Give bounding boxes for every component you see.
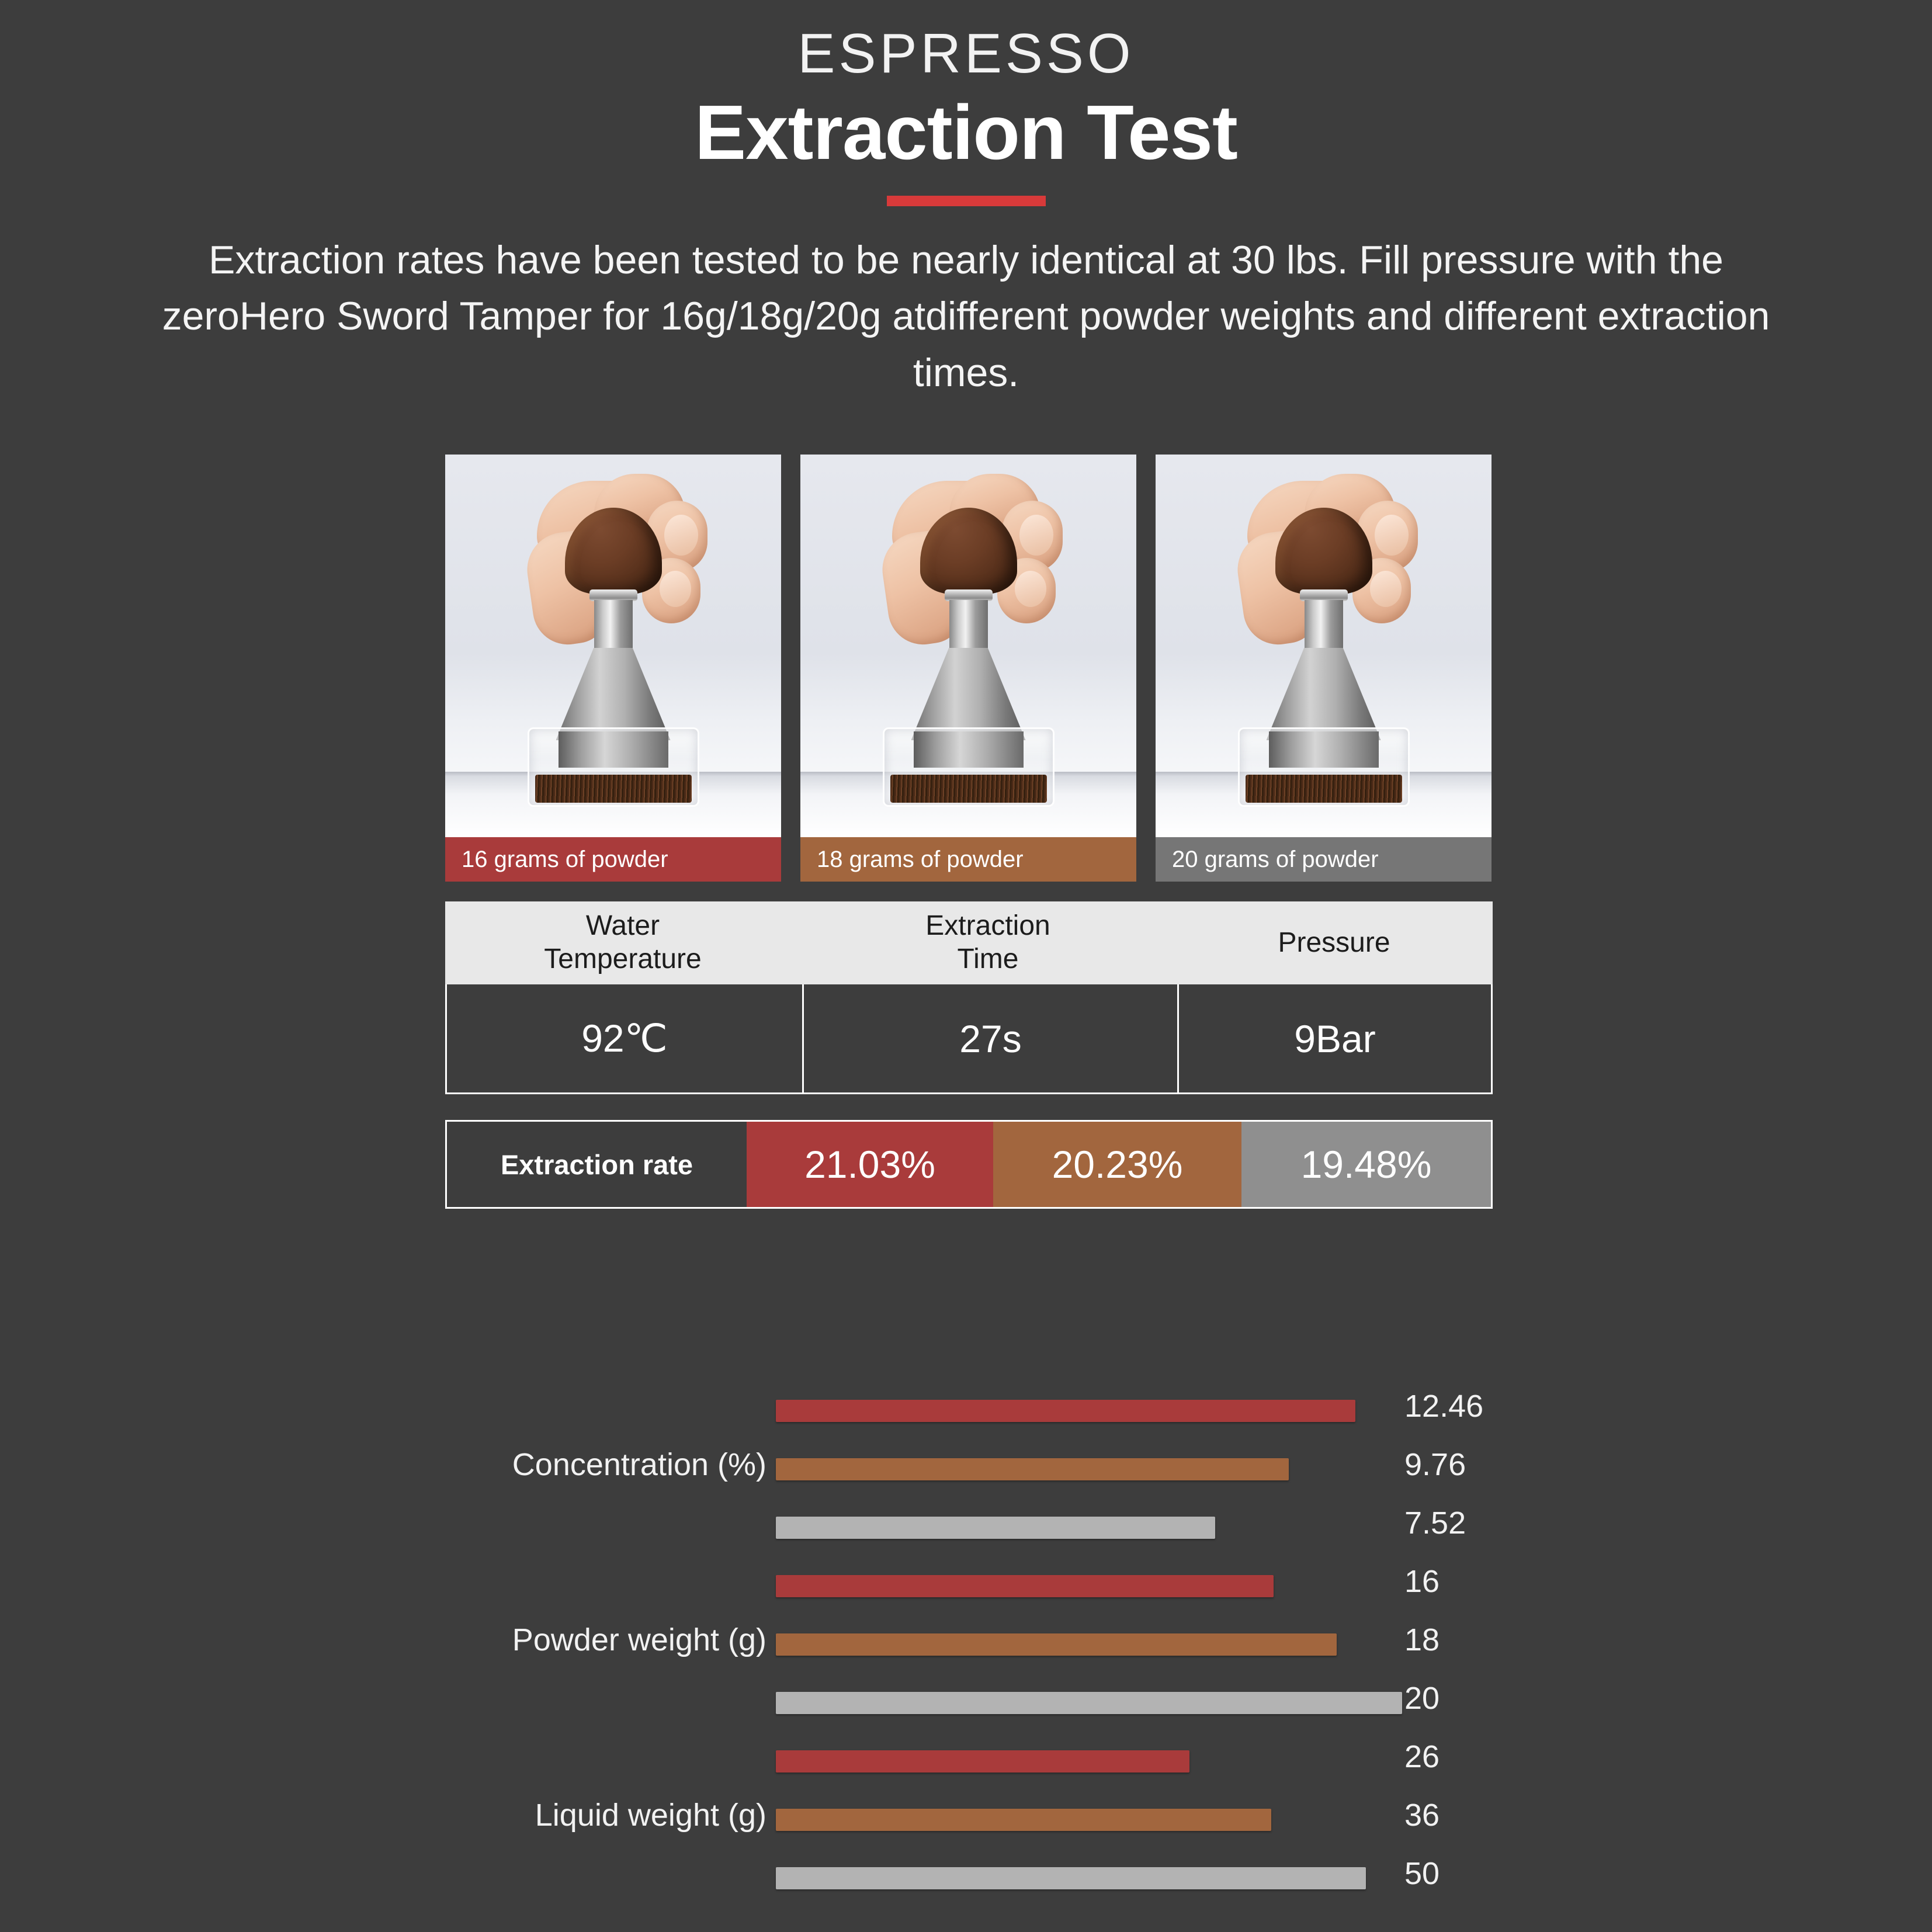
chart-group-label: Concentration (%): [409, 1447, 766, 1483]
bar-18g: [776, 1458, 1289, 1480]
fingernail-index: [1019, 515, 1053, 556]
spec-table-value-row: 92℃ 27s 9Bar: [445, 984, 1493, 1094]
extraction-rate-label: Extraction rate: [447, 1122, 747, 1207]
extraction-rate-row: Extraction rate 21.03% 20.23% 19.48%: [445, 1120, 1493, 1209]
tamper-collar: [945, 589, 993, 601]
spec-value-extraction-time: 27s: [802, 984, 1177, 1092]
extraction-rate-value-20g: 19.48%: [1241, 1122, 1491, 1207]
tamper-assembly: [1227, 480, 1420, 807]
bar-row: [776, 1809, 1271, 1831]
extraction-rate-value-16g: 21.03%: [747, 1122, 993, 1207]
photo-card-18g: 18 grams of powder: [800, 455, 1136, 882]
bar-value-20g: 50: [1404, 1855, 1440, 1892]
tamper-base-disc: [559, 731, 668, 768]
fingernail-middle: [660, 571, 691, 607]
fingernail-middle: [1370, 571, 1402, 607]
comparison-bar-chart: Concentration (%) 12.46 9.76 7.52 Powder…: [0, 1383, 1932, 1909]
tamper-bell: [556, 648, 671, 740]
dosing-cup: [528, 727, 699, 807]
bar-value-20g: 20: [1404, 1680, 1440, 1716]
tamper-assembly: [872, 480, 1065, 807]
bar-16g: [776, 1750, 1189, 1773]
photo-caption-16g: 16 grams of powder: [445, 837, 781, 882]
spec-table: Water Temperature Extraction Time Pressu…: [445, 901, 1493, 1094]
spec-table-header-row: Water Temperature Extraction Time Pressu…: [445, 901, 1493, 984]
bar-value-16g: 16: [1404, 1563, 1440, 1600]
bar-value-18g: 36: [1404, 1797, 1440, 1833]
bar-16g: [776, 1575, 1274, 1597]
bar-20g: [776, 1517, 1215, 1539]
tamper-collar: [1300, 589, 1348, 601]
bar-20g: [776, 1692, 1402, 1714]
bar-16g: [776, 1400, 1355, 1422]
spec-header-pressure: Pressure: [1175, 901, 1493, 984]
spec-header-line-1: Extraction: [925, 910, 1050, 943]
tamper-stem: [949, 600, 988, 650]
tamper-bell: [911, 648, 1026, 740]
bar-row: [776, 1692, 1402, 1714]
fingernail-index: [664, 515, 698, 556]
spec-header-extraction-time: Extraction Time: [800, 901, 1175, 984]
bar-value-16g: 12.46: [1404, 1388, 1483, 1424]
tamper-base-disc: [914, 731, 1024, 768]
tamper-bell: [1267, 648, 1381, 740]
bar-row: [776, 1400, 1355, 1422]
bar-value-18g: 18: [1404, 1622, 1440, 1658]
extraction-rate-value-18g: 20.23%: [993, 1122, 1241, 1207]
bar-row: [776, 1750, 1189, 1773]
photo-caption-18g: 18 grams of powder: [800, 837, 1136, 882]
chart-group-powder-weight: Powder weight (g) 16 18 20: [0, 1559, 1932, 1734]
bar-value-18g: 9.76: [1404, 1447, 1466, 1483]
tamper-stem: [594, 600, 633, 650]
fingernail-middle: [1015, 571, 1046, 607]
content-column: 16 grams of powder: [445, 455, 1493, 1209]
spec-header-water-temperature: Water Temperature: [445, 901, 800, 984]
tamper-photo-16g: [445, 455, 781, 837]
bar-value-20g: 7.52: [1404, 1505, 1466, 1541]
tamper-assembly: [517, 480, 710, 807]
bar-row: [776, 1867, 1366, 1889]
spec-header-line-2: Temperature: [544, 943, 701, 976]
chart-group-label: Powder weight (g): [409, 1622, 766, 1658]
bar-row: [776, 1517, 1215, 1539]
page-header: ESPRESSO Extraction Test Extraction rate…: [0, 0, 1932, 401]
coffee-grounds: [890, 775, 1047, 803]
fingernail-index: [1375, 515, 1409, 556]
tamper-base-disc: [1269, 731, 1379, 768]
spec-value-water-temperature: 92℃: [447, 984, 802, 1092]
tamper-stem: [1305, 600, 1343, 650]
title-underline-rule: [887, 196, 1046, 206]
coffee-grounds: [535, 775, 692, 803]
bar-18g: [776, 1633, 1337, 1656]
bar-row: [776, 1633, 1337, 1656]
bar-row: [776, 1458, 1289, 1480]
tamper-photo-18g: [800, 455, 1136, 837]
page-title: Extraction Test: [0, 87, 1932, 178]
tamper-photo-20g: [1156, 455, 1492, 837]
spec-header-line-1: Pressure: [1278, 927, 1390, 960]
spec-header-line-2: Time: [925, 943, 1050, 976]
chart-group-label: Liquid weight (g): [409, 1797, 766, 1833]
bar-20g: [776, 1867, 1366, 1889]
chart-group-liquid-weight: Liquid weight (g) 26 36 50: [0, 1734, 1932, 1909]
eyebrow-title: ESPRESSO: [0, 25, 1932, 84]
chart-group-concentration: Concentration (%) 12.46 9.76 7.52: [0, 1383, 1932, 1559]
photo-card-16g: 16 grams of powder: [445, 455, 781, 882]
coffee-grounds: [1246, 775, 1402, 803]
spec-value-pressure: 9Bar: [1177, 984, 1491, 1092]
photo-card-20g: 20 grams of powder: [1156, 455, 1492, 882]
bar-18g: [776, 1809, 1271, 1831]
page-subtitle: Extraction rates have been tested to be …: [151, 232, 1781, 401]
photo-caption-20g: 20 grams of powder: [1156, 837, 1492, 882]
dosing-cup: [883, 727, 1055, 807]
bar-row: [776, 1575, 1274, 1597]
spec-header-line-1: Water: [544, 910, 701, 943]
photo-strip: 16 grams of powder: [445, 455, 1493, 882]
dosing-cup: [1238, 727, 1410, 807]
bar-value-16g: 26: [1404, 1739, 1440, 1775]
tamper-collar: [589, 589, 637, 601]
